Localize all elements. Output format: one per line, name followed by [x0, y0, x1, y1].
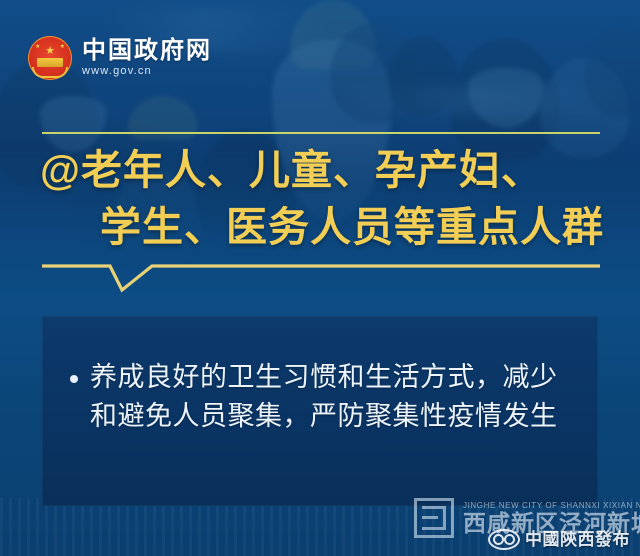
emblem-small-stars-icon: ★★ [35, 44, 65, 50]
bullet-dot-icon [70, 375, 78, 383]
seal-bar-shape [422, 516, 438, 519]
weibo-account-name: 中國陝西發布 [525, 531, 630, 548]
gov-header: ★ ★★ 中国政府网 www.gov.cn [28, 36, 212, 80]
page-title-line-2: 学生、医务人员等重点人群 [34, 199, 614, 256]
brand-english-name: JINGHE NEW CITY OF SHANNXI XIXIAN NEW AR… [463, 502, 640, 510]
gov-site-title: 中国政府网 [82, 39, 212, 63]
emblem-wheat-shape [32, 67, 68, 78]
bullet-item: 养成良好的卫生习惯和生活方式，减少和避免人员聚集，严防聚集性疫情发生 [70, 358, 578, 436]
gov-site-url: www.gov.cn [82, 66, 212, 77]
weibo-watermark: 中國陝西發布 [488, 529, 630, 550]
notch-pointer-shape [42, 262, 600, 296]
emblem-gate-shape [37, 58, 63, 67]
page-title-line-1: @老年人、儿童、孕产妇、 [34, 142, 614, 199]
jinghe-seal-logo-icon [414, 498, 454, 538]
poster-root: ★ ★★ 中国政府网 www.gov.cn @老年人、儿童、孕产妇、 学生、医务… [0, 0, 640, 556]
gov-header-text: 中国政府网 www.gov.cn [82, 39, 212, 77]
divider-rule-bottom [42, 262, 600, 296]
weibo-icon [488, 529, 520, 550]
content-card: 养成良好的卫生习惯和生活方式，减少和避免人员聚集，严防聚集性疫情发生 [42, 316, 598, 506]
china-national-emblem-icon: ★ ★★ [28, 36, 72, 80]
divider-rule-top [42, 132, 600, 134]
page-title: @老年人、儿童、孕产妇、 学生、医务人员等重点人群 [34, 142, 614, 255]
bullet-text: 养成良好的卫生习惯和生活方式，减少和避免人员聚集，严防聚集性疫情发生 [90, 358, 578, 436]
